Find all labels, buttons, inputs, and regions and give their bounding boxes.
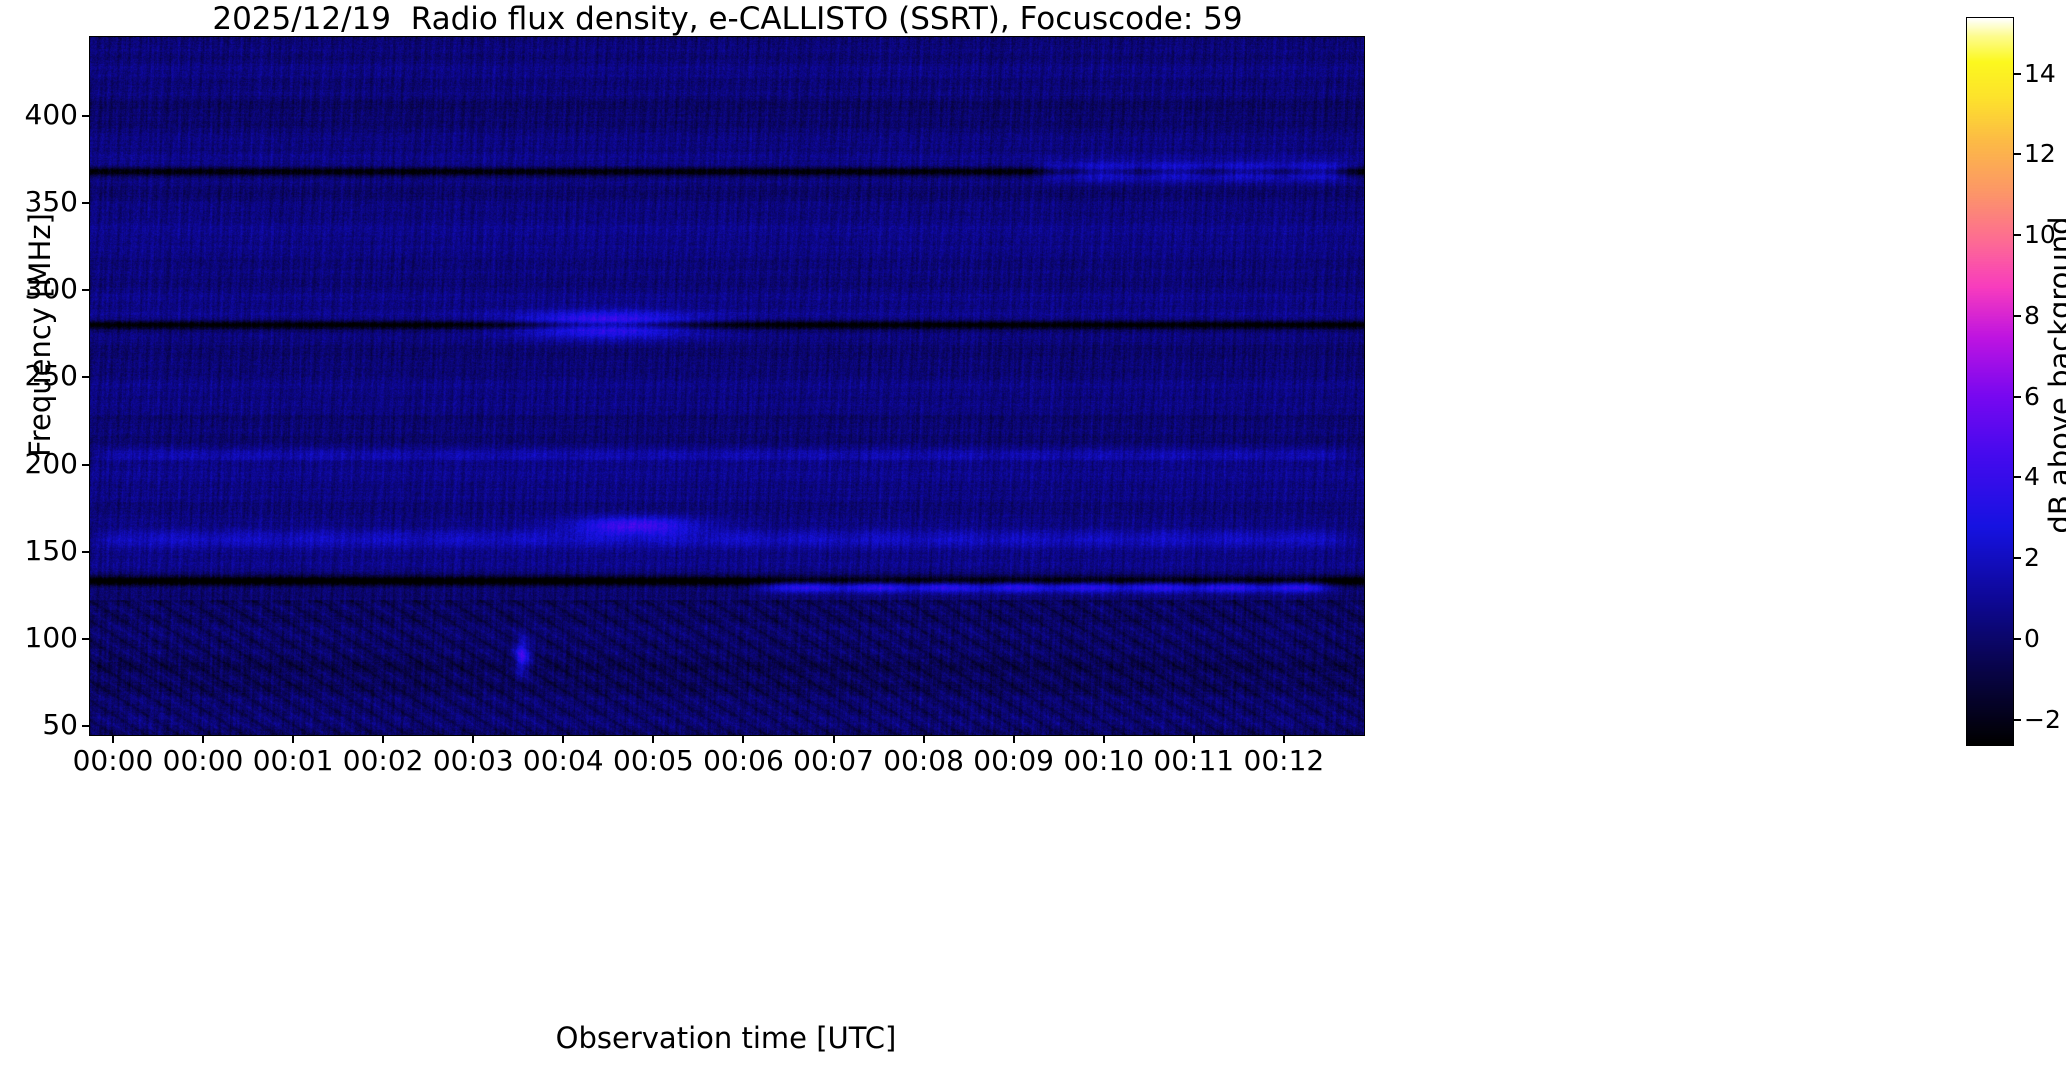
- y-tick-mark: [82, 202, 89, 204]
- y-tick-mark: [82, 551, 89, 553]
- y-tick-mark: [82, 376, 89, 378]
- y-tick-label: 150: [0, 537, 78, 565]
- y-tick-label: 100: [0, 624, 78, 652]
- x-tick-mark: [562, 735, 564, 743]
- x-tick-mark: [382, 735, 384, 743]
- colorbar-tick-label: 2: [2024, 545, 2040, 570]
- colorbar-label: dB above background: [2045, 215, 2066, 535]
- y-tick-mark: [82, 638, 89, 640]
- colorbar-gradient: [1967, 18, 2013, 745]
- spectrogram-plot-area: [89, 36, 1365, 736]
- y-tick-mark: [82, 115, 89, 117]
- colorbar-tick-mark: [2014, 719, 2021, 721]
- y-tick-label: 50: [0, 711, 78, 739]
- x-tick-mark: [833, 735, 835, 743]
- colorbar-tick-mark: [2014, 557, 2021, 559]
- x-tick-mark: [202, 735, 204, 743]
- x-tick-mark: [1283, 735, 1285, 743]
- x-tick-mark: [1103, 735, 1105, 743]
- y-tick-mark: [82, 725, 89, 727]
- colorbar-tick-label: 8: [2024, 303, 2040, 328]
- x-tick-mark: [923, 735, 925, 743]
- colorbar-tick-label: 0: [2024, 626, 2040, 651]
- colorbar-tick-mark: [2014, 476, 2021, 478]
- colorbar-tick-label: 14: [2024, 61, 2056, 86]
- y-tick-label: 250: [0, 362, 78, 390]
- colorbar-tick-label: −2: [2024, 707, 2061, 732]
- x-tick-mark: [472, 735, 474, 743]
- colorbar-tick-label: 6: [2024, 384, 2040, 409]
- x-axis-label: Observation time [UTC]: [89, 1022, 1363, 1054]
- x-tick-mark: [1013, 735, 1015, 743]
- colorbar-tick-label: 4: [2024, 464, 2040, 489]
- y-tick-mark: [82, 464, 89, 466]
- x-tick-mark: [742, 735, 744, 743]
- colorbar-tick-mark: [2014, 315, 2021, 317]
- y-tick-label: 300: [0, 275, 78, 303]
- x-tick-mark: [1193, 735, 1195, 743]
- spectrogram-figure: 2025/12/19 Radio flux density, e-CALLIST…: [0, 0, 2066, 1067]
- y-tick-mark: [82, 289, 89, 291]
- page-title: 2025/12/19 Radio flux density, e-CALLIST…: [0, 2, 1455, 36]
- x-tick-mark: [652, 735, 654, 743]
- x-tick-mark: [112, 735, 114, 743]
- y-tick-label: 200: [0, 450, 78, 478]
- colorbar-tick-mark: [2014, 396, 2021, 398]
- spectrogram-image: [90, 37, 1364, 735]
- x-tick-label: 00:12: [1204, 746, 1364, 776]
- colorbar-tick-label: 12: [2024, 141, 2056, 166]
- x-tick-mark: [292, 735, 294, 743]
- y-tick-label: 350: [0, 188, 78, 216]
- y-tick-label: 400: [0, 101, 78, 129]
- colorbar-tick-mark: [2014, 73, 2021, 75]
- colorbar: [1966, 17, 2014, 746]
- colorbar-tick-mark: [2014, 153, 2021, 155]
- colorbar-tick-mark: [2014, 638, 2021, 640]
- colorbar-tick-mark: [2014, 234, 2021, 236]
